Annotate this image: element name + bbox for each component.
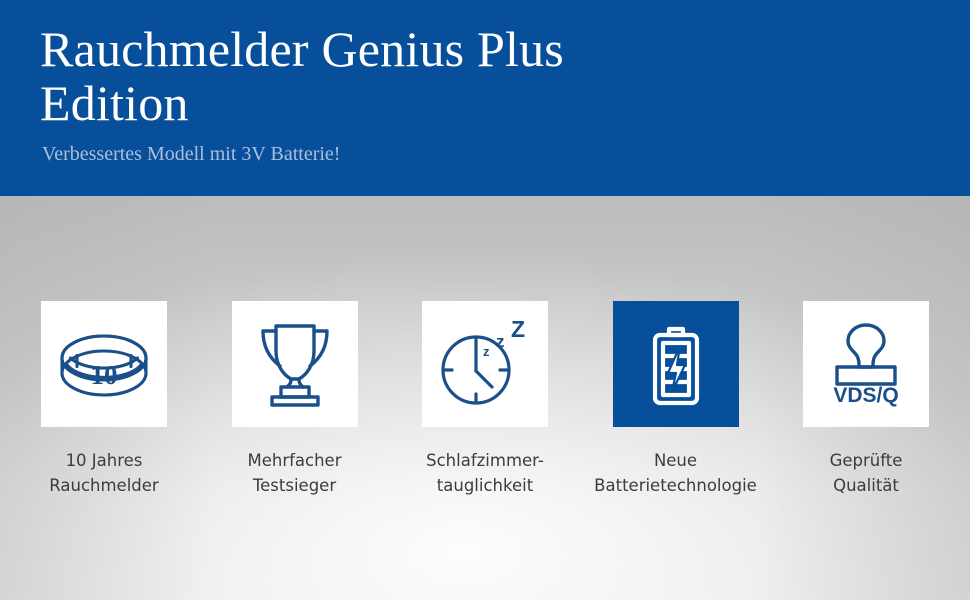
feature-item-neue-batterietechnologie: Neue Batterietechnologie xyxy=(613,301,739,498)
svg-text:z: z xyxy=(483,344,490,359)
feature-icon-tile: 10 xyxy=(41,301,167,427)
feature-icon-tile: z z Z xyxy=(422,301,548,427)
feature-list: 10 10 Jahres Rauchmelder xyxy=(41,301,929,498)
page-title: Rauchmelder Genius Plus Edition xyxy=(40,22,740,130)
svg-text:z: z xyxy=(496,332,505,351)
stamp-vds-q-icon: VDS/Q xyxy=(824,319,908,409)
battery-lightning-icon xyxy=(645,318,707,410)
svg-text:VDS/Q: VDS/Q xyxy=(833,384,898,407)
feature-caption: 10 Jahres Rauchmelder xyxy=(4,448,204,498)
banner-header: Rauchmelder Genius Plus Edition Verbesse… xyxy=(0,0,970,196)
feature-icon-tile xyxy=(232,301,358,427)
feature-caption: Neue Batterietechnologie xyxy=(576,448,776,498)
clock-sleep-zzz-icon: z z Z xyxy=(436,319,534,409)
feature-item-schlafzimmertauglichkeit: z z Z Schlafzimmer- tauglichkeit xyxy=(422,301,548,498)
page-subtitle: Verbessertes Modell mit 3V Batterie! xyxy=(42,142,930,166)
trophy-icon xyxy=(254,321,336,407)
header-text-block: Rauchmelder Genius Plus Edition Verbesse… xyxy=(40,22,930,166)
smoke-detector-10-years-icon: 10 xyxy=(58,325,150,403)
feature-icon-tile-accent xyxy=(613,301,739,427)
feature-caption: Schlafzimmer- tauglichkeit xyxy=(385,448,585,498)
feature-item-10-jahres-rauchmelder: 10 10 Jahres Rauchmelder xyxy=(41,301,167,498)
feature-caption: Mehrfacher Testsieger xyxy=(195,448,395,498)
feature-icon-tile: VDS/Q xyxy=(803,301,929,427)
feature-item-gepruefte-qualitaet: VDS/Q Geprüfte Qualität xyxy=(803,301,929,498)
product-feature-banner: Rauchmelder Genius Plus Edition Verbesse… xyxy=(0,0,970,600)
svg-text:Z: Z xyxy=(511,319,525,342)
svg-text:10: 10 xyxy=(91,360,118,390)
feature-caption: Geprüfte Qualität xyxy=(766,448,966,498)
feature-item-mehrfacher-testsieger: Mehrfacher Testsieger xyxy=(232,301,358,498)
